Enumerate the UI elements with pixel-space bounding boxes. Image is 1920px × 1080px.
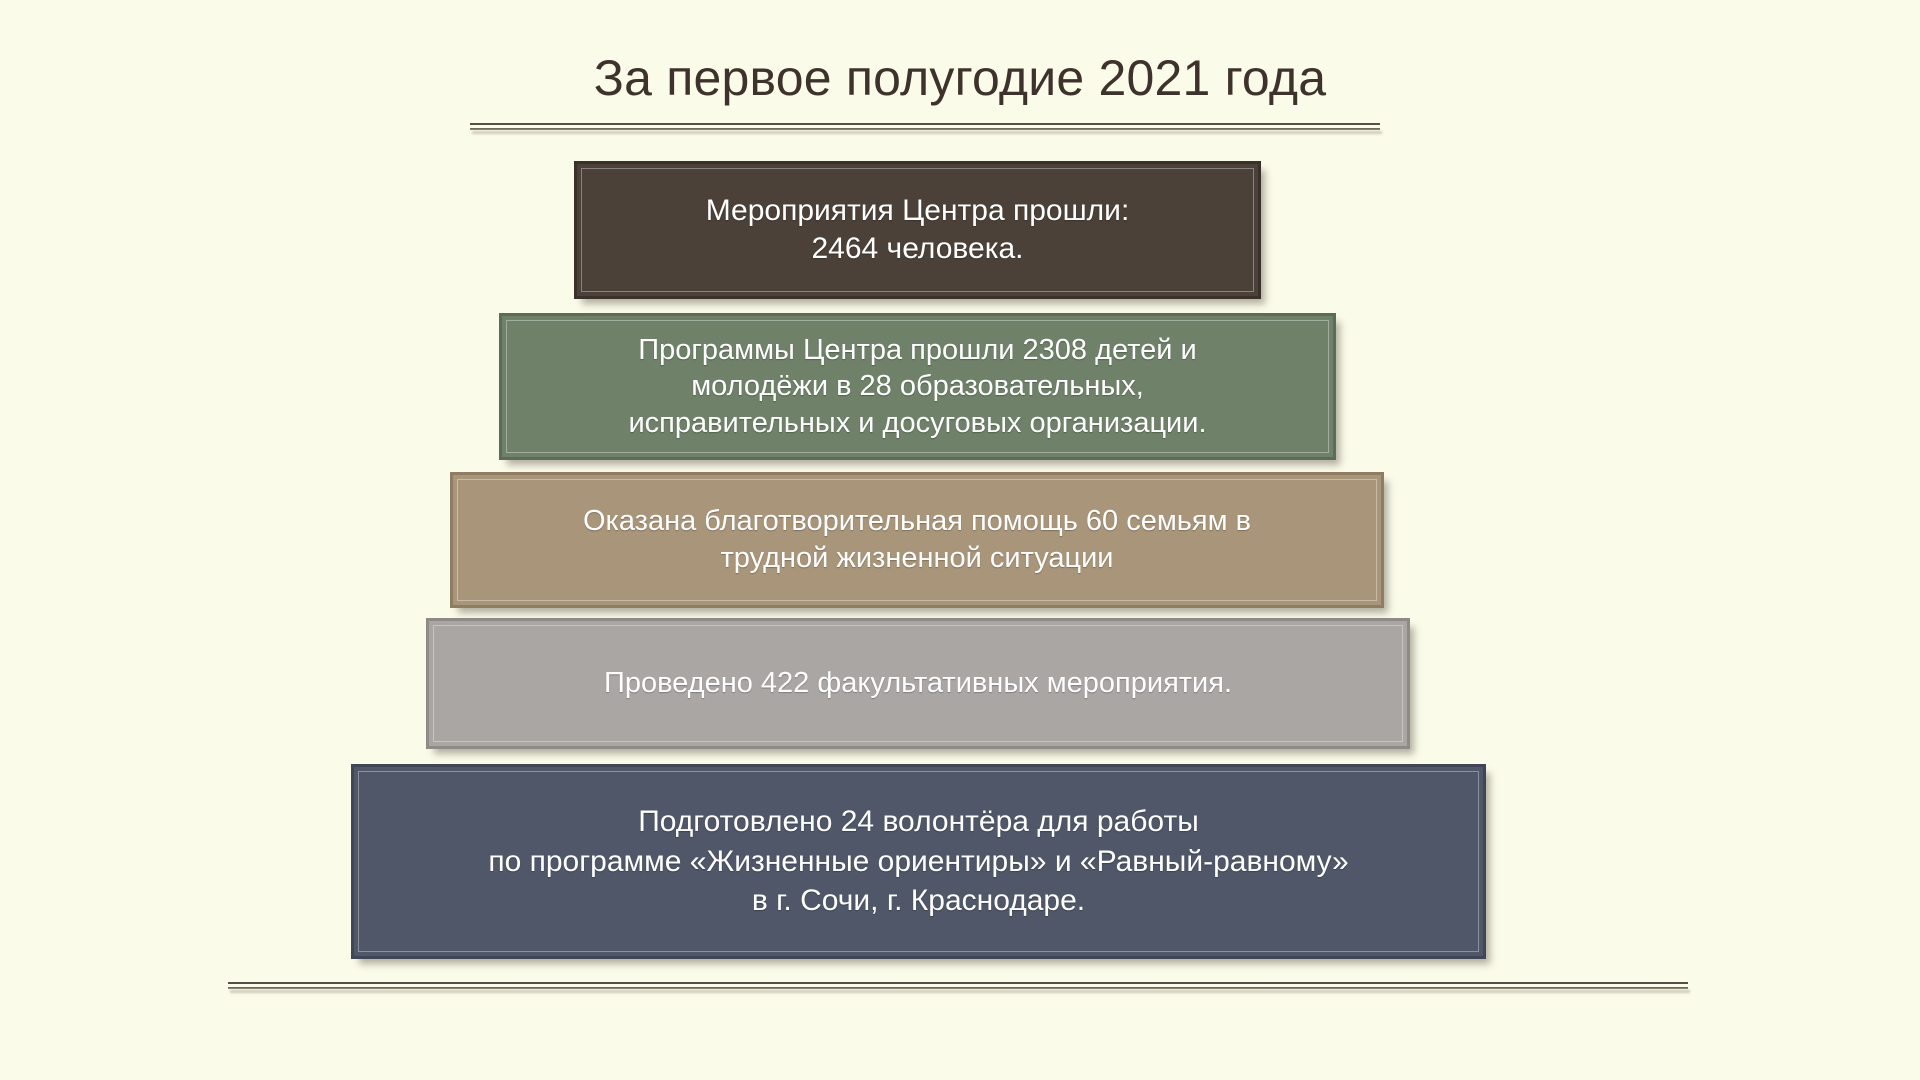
top-divider-rule — [470, 123, 1380, 132]
divider-shadow — [230, 990, 1690, 993]
pyramid-level-2-label: Программы Центра прошли 2308 детей и мол… — [516, 332, 1319, 442]
pyramid-level-4[interactable]: Проведено 422 факультативных мероприятия… — [426, 618, 1410, 749]
divider-line-lower — [228, 987, 1688, 989]
pyramid-level-1[interactable]: Мероприятия Центра прошли: 2464 человека… — [574, 161, 1261, 299]
divider-line-upper — [228, 982, 1688, 984]
pyramid-level-1-label: Мероприятия Центра прошли: 2464 человека… — [591, 192, 1244, 268]
pyramid-level-3-label: Оказана благотворительная помощь 60 семь… — [467, 503, 1367, 576]
pyramid-level-5[interactable]: Подготовлено 24 волонтёра для работы по … — [351, 764, 1486, 959]
divider-line-lower — [470, 128, 1380, 130]
pyramid-level-4-label: Проведено 422 факультативных мероприятия… — [443, 665, 1393, 702]
pyramid-level-3[interactable]: Оказана благотворительная помощь 60 семь… — [450, 472, 1384, 608]
pyramid-level-2[interactable]: Программы Центра прошли 2308 детей и мол… — [499, 313, 1336, 460]
bottom-divider-rule — [228, 982, 1688, 991]
divider-line-upper — [470, 123, 1380, 125]
divider-shadow — [472, 131, 1382, 134]
page-title: За первое полугодие 2021 года — [0, 52, 1920, 105]
pyramid-level-5-label: Подготовлено 24 волонтёра для работы по … — [368, 802, 1469, 922]
